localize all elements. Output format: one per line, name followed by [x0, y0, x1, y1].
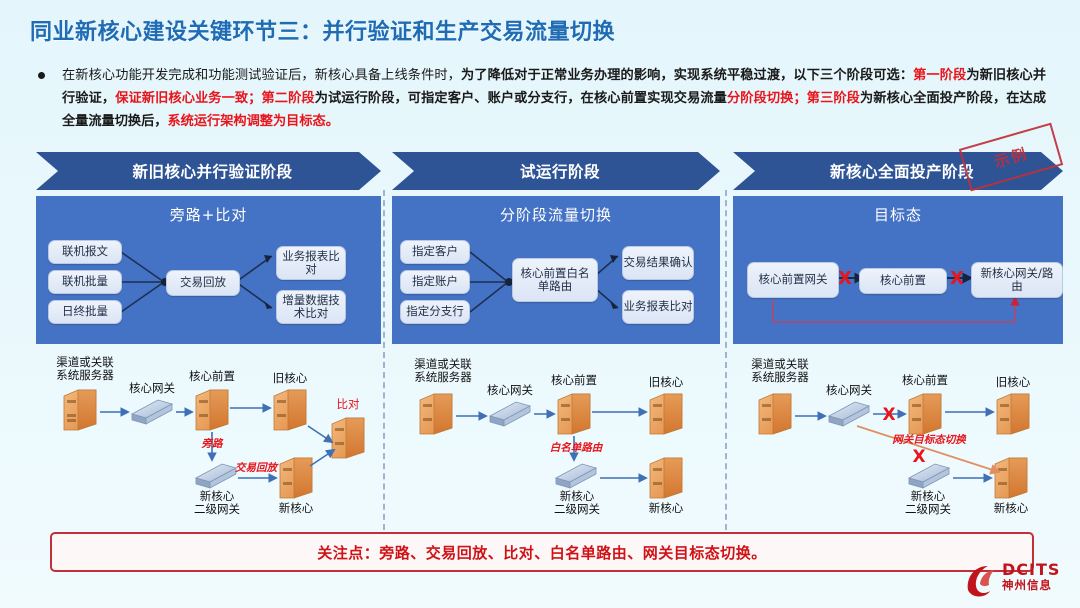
paragraph-segment-5: 第二阶段 — [261, 91, 314, 106]
dcits-logo-text: DCITS 神州信息 — [1002, 561, 1060, 592]
phase-column-2: 试运行阶段 分阶段流量切换 指定客户 指定账户 — [392, 152, 720, 530]
server-label-2-0: 渠道或关联 系统服务器 — [400, 358, 486, 384]
phase-panel-title-1: 旁路+比对 — [36, 196, 381, 225]
paragraph-segment-6: 为试运行阶段，可指定客户、账户或分支行，在核心前置实现交易流量 — [315, 91, 727, 106]
phase-servers-2: 渠道或关联 系统服务器 核心网关 核心前置 旧核心 白名单路由 新核心 二级网关… — [392, 350, 720, 526]
panel-1-node-0[interactable]: 联机报文 — [48, 240, 122, 264]
intro-bullet: 在新核心功能开发完成和功能测试验证后，新核心具备上线条件时，为了降低对于正常业务… — [36, 64, 1046, 133]
phase-header-2[interactable]: 试运行阶段 — [392, 152, 720, 190]
server-label-2-3: 旧核心 — [634, 376, 698, 389]
paragraph-segment-7: 分阶段切换； — [727, 91, 807, 106]
phase-panel-3: 目标态 — [733, 196, 1063, 344]
server-label-1-0: 渠道或关联 系统服务器 — [42, 356, 128, 382]
key-points-callout: 关注点：旁路、交易回放、比对、白名单路由、网关目标态切换。 — [50, 532, 1034, 572]
column-divider-1 — [383, 190, 385, 530]
server-label-1-4: 比对 — [320, 398, 376, 411]
dcits-logo-en: DCITS — [1002, 561, 1060, 578]
server-label-1-2: 核心前置 — [180, 370, 244, 383]
panel-2-node-5[interactable]: 业务报表比对 — [622, 290, 694, 324]
panel-2-node-2[interactable]: 指定分支行 — [400, 300, 470, 324]
panel-1-node-2[interactable]: 日终批量 — [48, 300, 122, 324]
bullet-dot-icon — [38, 72, 45, 79]
panel-3-node-1[interactable]: 核心前置 — [859, 268, 947, 294]
server-label-1-3: 旧核心 — [258, 372, 322, 385]
server-label-3-1: 核心网关 — [817, 384, 881, 397]
paragraph-segment-8: 第三阶段 — [807, 91, 860, 106]
svg-text:X: X — [950, 268, 964, 289]
phase-panel-title-3: 目标态 — [733, 196, 1063, 225]
phase-columns: 新旧核心并行验证阶段 旁路+比对 联机报文 联机批量 — [0, 152, 1080, 530]
svg-text:X: X — [838, 268, 852, 289]
paragraph-segment-4: 保证新旧核心业务一致； — [115, 91, 261, 106]
paragraph-segment-0: 在新核心功能开发完成和功能测试验证后，新核心具备上线条件时， — [62, 68, 461, 83]
panel-1-node-1[interactable]: 联机批量 — [48, 270, 122, 294]
svg-text:X: X — [882, 405, 895, 425]
server-label-2-5: 新核心 二级网关 — [538, 490, 616, 516]
paragraph-segment-10: 系统运行架构调整为目标态。 — [168, 114, 339, 129]
server-label-3-5: 新核心 二级网关 — [889, 490, 967, 516]
panel-1-node-5[interactable]: 增量数据技术比对 — [276, 290, 346, 324]
panel-1-node-4[interactable]: 业务报表比对 — [276, 246, 346, 280]
paragraph-segment-2: 第一阶段 — [913, 68, 966, 83]
paragraph-segment-1: 为了降低对于正常业务办理的影响，实现系统平稳过渡，以下三个阶段可选： — [461, 68, 913, 83]
server-label-3-0: 渠道或关联 系统服务器 — [737, 358, 823, 384]
server-label-2-4: 白名单路由 — [540, 442, 612, 455]
panel-2-node-0[interactable]: 指定客户 — [400, 240, 470, 264]
phase-panel-1: 旁路+比对 联机报文 联机批量 日终批量 交易回放 — [36, 196, 381, 344]
panel-3-node-0[interactable]: 核心前置网关 — [747, 262, 839, 298]
server-label-1-5: 旁路 — [186, 438, 238, 451]
server-label-1-6: 交易回放 — [224, 462, 288, 475]
server-label-1-7: 新核心 二级网关 — [178, 490, 256, 516]
panel-1-node-3[interactable]: 交易回放 — [166, 270, 240, 296]
phase-servers-3: X X 渠道或关联 系统服务器 核心网关 核心前置 旧核心 网关目标态切换 新核… — [733, 350, 1063, 526]
server-label-1-8: 新核心 — [264, 502, 328, 515]
phase-column-1: 新旧核心并行验证阶段 旁路+比对 联机报文 联机批量 — [36, 152, 381, 530]
server-label-2-1: 核心网关 — [478, 384, 542, 397]
dcits-logo-cn: 神州信息 — [1002, 578, 1060, 592]
phase-column-3: 新核心全面投产阶段 目标态 — [733, 152, 1063, 530]
column-divider-2 — [725, 190, 727, 530]
phase-servers-1: 渠道或关联 系统服务器 核心网关 核心前置 旧核心 比对 旁路 交易回放 新核心… — [36, 350, 381, 526]
page-title: 同业新核心建设关键环节三：并行验证和生产交易流量切换 — [30, 14, 615, 46]
dcits-mark-icon — [962, 560, 1002, 600]
server-label-2-2: 核心前置 — [542, 374, 606, 387]
server-label-3-2: 核心前置 — [893, 374, 957, 387]
phase-header-1[interactable]: 新旧核心并行验证阶段 — [36, 152, 381, 190]
intro-paragraph: 在新核心功能开发完成和功能测试验证后，新核心具备上线条件时，为了降低对于正常业务… — [62, 64, 1046, 133]
server-label-1-1: 核心网关 — [120, 382, 184, 395]
slide-root: 同业新核心建设关键环节三：并行验证和生产交易流量切换 在新核心功能开发完成和功能… — [0, 0, 1080, 608]
dcits-logo: DCITS 神州信息 — [962, 560, 1074, 602]
panel-2-node-1[interactable]: 指定账户 — [400, 270, 470, 294]
server-label-3-3: 旧核心 — [981, 376, 1045, 389]
server-label-3-6: 新核心 — [979, 502, 1043, 515]
panel-3-node-2[interactable]: 新核心网关/路由 — [971, 262, 1063, 298]
phase-panel-title-2: 分阶段流量切换 — [392, 196, 720, 225]
phase-panel-2: 分阶段流量切换 指定客户 指定账户 指定分支行 核心前置白 — [392, 196, 720, 344]
panel-2-node-4[interactable]: 交易结果确认 — [622, 246, 694, 280]
server-label-2-6: 新核心 — [634, 502, 698, 515]
panel-2-node-3[interactable]: 核心前置白名单路由 — [512, 258, 598, 302]
svg-text:X: X — [912, 447, 925, 467]
server-label-3-4: 网关目标态切换 — [881, 434, 977, 447]
